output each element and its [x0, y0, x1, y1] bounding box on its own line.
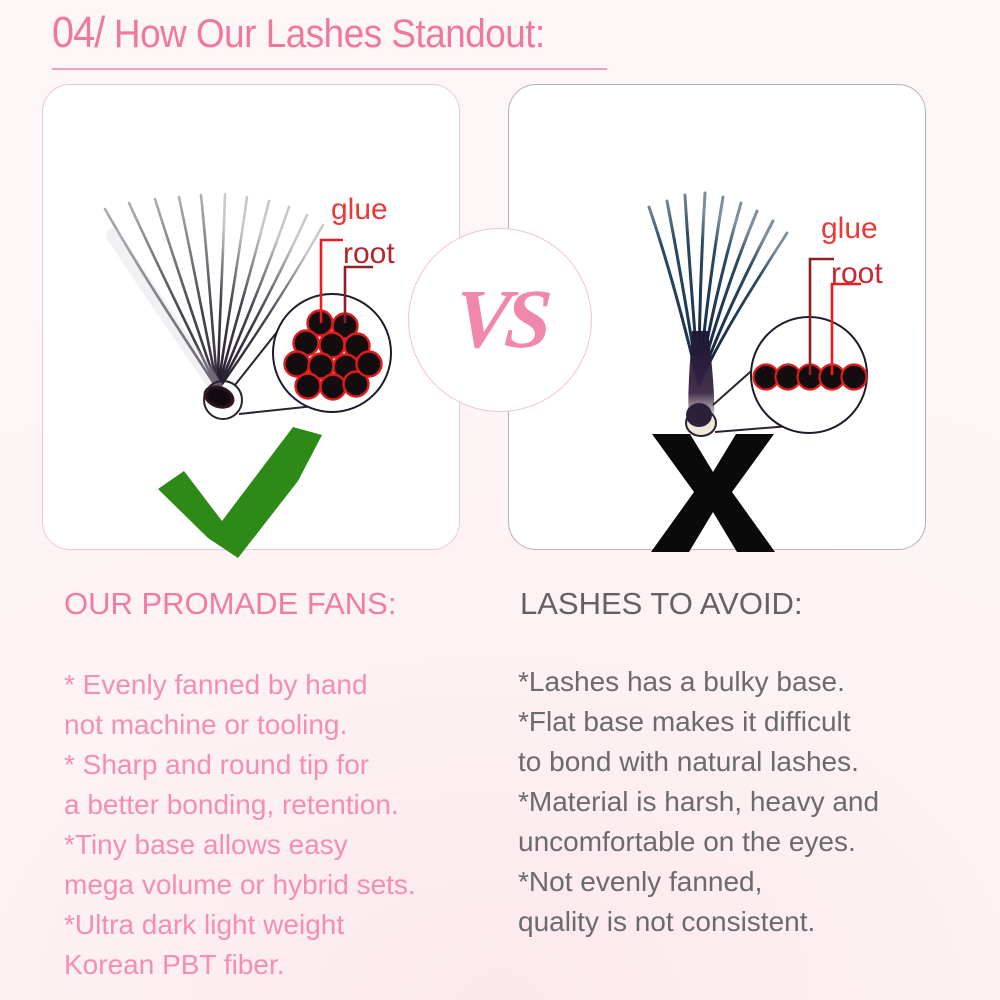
root-label-left: root: [343, 237, 395, 271]
check-icon: [158, 427, 322, 558]
poster-root: 04/How Our Lashes Standout:: [0, 0, 1000, 1000]
header-underline: [52, 68, 607, 70]
page-header: 04/How Our Lashes Standout:: [52, 8, 952, 70]
page-title: How Our Lashes Standout:: [114, 12, 545, 57]
vs-badge: VS: [408, 228, 592, 412]
section-number: 04/: [52, 8, 104, 58]
left-section-heading: OUR PROMADE FANS:: [64, 586, 396, 622]
check-mark: [152, 425, 327, 560]
x-icon: [651, 434, 775, 552]
right-section-body: *Lashes has a bulky base. *Flat base mak…: [518, 662, 958, 942]
glue-label-right: glue: [821, 212, 878, 246]
glue-label-left: glue: [331, 193, 388, 227]
x-mark: [648, 432, 778, 554]
vs-label: VS: [452, 278, 549, 362]
root-label-right: root: [831, 257, 883, 291]
base-glue-blob: [686, 403, 712, 427]
left-section-body: * Evenly fanned by hand not machine or t…: [64, 665, 484, 985]
right-section-heading: LASHES TO AVOID:: [520, 586, 803, 622]
